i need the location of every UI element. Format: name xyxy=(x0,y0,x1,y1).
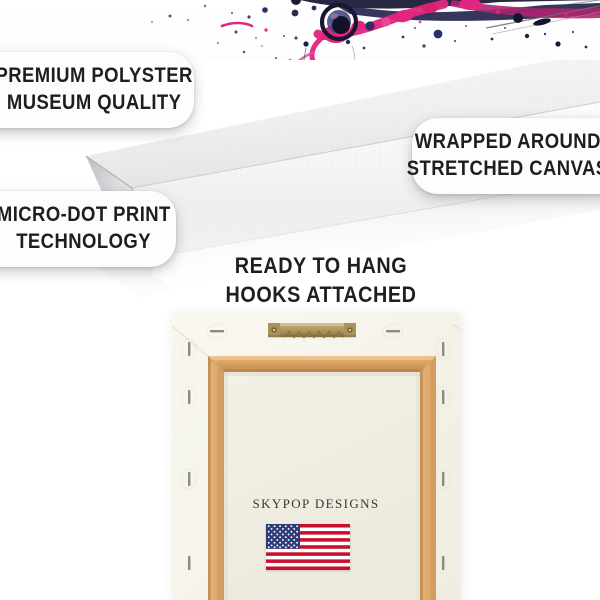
callout-line: MUSEUM QUALITY xyxy=(7,90,182,117)
callout-line: WRAPPED AROUND xyxy=(415,129,600,156)
callout-line: STRETCHED CANVAS xyxy=(407,156,600,183)
brand-wordmark: SKYPOP DESIGNS xyxy=(172,496,460,512)
product-marketing-image: PREMIUM POLYSTER MUSEUM QUALITY WRAPPED … xyxy=(0,0,600,600)
sawtooth-hanger xyxy=(268,323,356,337)
usa-flag-icon xyxy=(266,524,350,570)
heading-line: HOOKS ATTACHED xyxy=(200,281,443,310)
callout-premium-polyster: PREMIUM POLYSTER MUSEUM QUALITY xyxy=(0,52,194,128)
usa-flag-svg xyxy=(266,524,350,570)
callout-line: PREMIUM POLYSTER xyxy=(0,63,193,90)
canvas-back-view: SKYPOP DESIGNS xyxy=(172,312,460,600)
callout-wrapped-around: WRAPPED AROUND STRETCHED CANVAS xyxy=(412,118,600,194)
callout-line: MICRO-DOT PRINT xyxy=(0,202,171,229)
callout-line: TECHNOLOGY xyxy=(17,229,152,256)
callout-micro-dot: MICRO-DOT PRINT TECHNOLOGY xyxy=(0,191,176,267)
ready-to-hang-heading: READY TO HANG HOOKS ATTACHED xyxy=(186,252,456,309)
heading-line: READY TO HANG xyxy=(200,252,443,281)
